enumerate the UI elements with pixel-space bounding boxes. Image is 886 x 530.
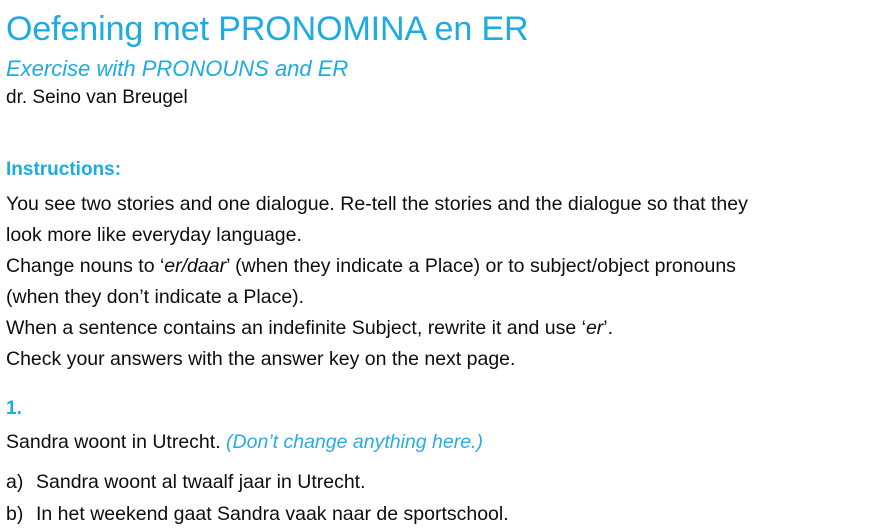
document-title: Oefening met PRONOMINA en ER [6, 8, 529, 50]
instructions-line-5-prefix: When a sentence contains an indefinite S… [6, 317, 586, 339]
list-item-text: In het weekend gaat Sandra vaak naar de … [36, 498, 509, 530]
instructions-line-1: You see two stories and one dialogue. Re… [6, 189, 882, 220]
instructions-line-3-suffix: ’ (when they indicate a Place) or to sub… [226, 255, 736, 277]
instructions-body: You see two stories and one dialogue. Re… [6, 189, 882, 375]
instructions-line-3-prefix: Change nouns to ‘ [6, 255, 164, 277]
exercise-number: 1. [6, 397, 22, 421]
document-page: Oefening met PRONOMINA en ER Exercise wi… [0, 0, 886, 530]
instructions-line-5-emphasis: er [586, 317, 603, 339]
instructions-line-2: look more like everyday language. [6, 220, 882, 251]
exercise-prompt-note: (Don’t change anything here.) [226, 431, 483, 453]
list-item: b) In het weekend gaat Sandra vaak naar … [6, 498, 876, 530]
list-item: a) Sandra woont al twaalf jaar in Utrech… [6, 466, 876, 498]
list-item-text: Sandra woont al twaalf jaar in Utrecht. [36, 466, 366, 498]
instructions-heading: Instructions: [6, 158, 121, 182]
list-item-marker: b) [6, 498, 36, 530]
instructions-line-3: Change nouns to ‘er/daar’ (when they ind… [6, 251, 882, 282]
instructions-line-5: When a sentence contains an indefinite S… [6, 313, 882, 344]
exercise-prompt: Sandra woont in Utrecht. (Don’t change a… [6, 428, 483, 456]
document-author: dr. Seino van Breugel [6, 86, 188, 110]
exercise-prompt-sentence: Sandra woont in Utrecht. [6, 431, 221, 453]
list-item-marker: a) [6, 466, 36, 498]
instructions-line-6: Check your answers with the answer key o… [6, 344, 882, 375]
exercise-item-list: a) Sandra woont al twaalf jaar in Utrech… [6, 466, 876, 530]
instructions-line-3-emphasis: er/daar [164, 255, 226, 277]
document-subtitle: Exercise with PRONOUNS and ER [6, 56, 348, 82]
instructions-line-4: (when they don’t indicate a Place). [6, 282, 882, 313]
instructions-line-5-suffix: ’. [603, 317, 613, 339]
